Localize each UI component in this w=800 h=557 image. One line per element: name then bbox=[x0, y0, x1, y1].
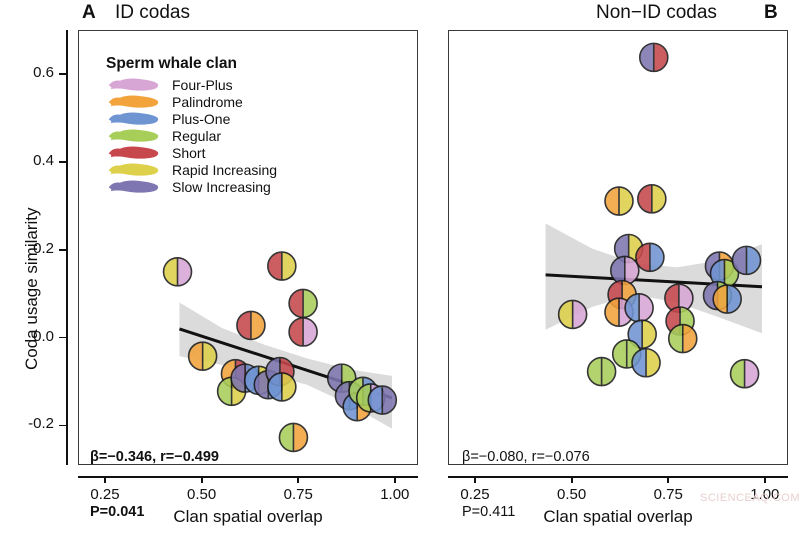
x-axis-line-a bbox=[78, 476, 418, 478]
panel-b-stats: β=−0.080, r=−0.076 P=0.411 bbox=[462, 412, 590, 557]
clan-legend: Sperm whale clan Four-PlusPalindromePlus… bbox=[106, 55, 277, 195]
data-point bbox=[625, 294, 653, 322]
panel-b-title: Non−ID codas bbox=[596, 2, 717, 24]
data-point bbox=[279, 423, 307, 451]
legend-item-label: Slow Increasing bbox=[172, 179, 271, 195]
legend-item-label: Short bbox=[172, 145, 205, 161]
y-tick-3 bbox=[59, 161, 66, 163]
legend-title: Sperm whale clan bbox=[106, 55, 277, 73]
data-point bbox=[559, 300, 587, 328]
y-tick-label-3: 0.4 bbox=[6, 152, 54, 169]
y-tick-1 bbox=[59, 337, 66, 339]
data-point bbox=[268, 252, 296, 280]
whale-icon bbox=[106, 94, 162, 109]
data-point bbox=[632, 349, 660, 377]
watermark: SCIENCEAQ.COM bbox=[700, 492, 800, 504]
x-tick-b-1 bbox=[571, 476, 573, 483]
whale-icon bbox=[106, 162, 162, 177]
y-tick-4 bbox=[59, 73, 66, 75]
panel-b-stats-line1: β=−0.080, r=−0.076 bbox=[462, 448, 590, 466]
x-tick-b-2 bbox=[667, 476, 669, 483]
legend-item-label: Rapid Increasing bbox=[172, 162, 277, 178]
legend-item[interactable]: Short bbox=[106, 144, 277, 161]
y-tick-label-4: 0.6 bbox=[6, 64, 54, 81]
legend-item-label: Four-Plus bbox=[172, 77, 233, 93]
data-point bbox=[368, 386, 396, 414]
legend-item[interactable]: Rapid Increasing bbox=[106, 161, 277, 178]
x-tick-label-b-1: 0.50 bbox=[542, 486, 602, 503]
whale-icon bbox=[106, 111, 162, 126]
data-point bbox=[733, 246, 761, 274]
panel-a-title: ID codas bbox=[115, 2, 190, 24]
data-point bbox=[669, 325, 697, 353]
legend-item[interactable]: Four-Plus bbox=[106, 76, 277, 93]
legend-item[interactable]: Slow Increasing bbox=[106, 178, 277, 195]
x-axis-title-b: Clan spatial overlap bbox=[538, 507, 698, 527]
data-point bbox=[731, 360, 759, 388]
legend-rows: Four-PlusPalindromePlus-OneRegularShortR… bbox=[106, 76, 277, 195]
x-tick-label-a-1: 0.50 bbox=[172, 486, 232, 503]
data-point bbox=[713, 285, 741, 313]
data-point bbox=[289, 289, 317, 317]
data-point bbox=[164, 258, 192, 286]
y-axis-title: Coda usage similarity bbox=[22, 207, 42, 370]
panel-a-stats: β=−0.346, r=−0.499 P=0.041 bbox=[90, 412, 219, 557]
x-tick-b-3 bbox=[764, 476, 766, 483]
data-point bbox=[605, 187, 633, 215]
data-point bbox=[237, 311, 265, 339]
whale-icon bbox=[106, 145, 162, 160]
x-tick-label-a-3: 1.00 bbox=[365, 486, 425, 503]
x-tick-a-2 bbox=[297, 476, 299, 483]
panel-a-letter: A bbox=[82, 2, 96, 24]
data-point bbox=[189, 342, 217, 370]
data-point bbox=[638, 185, 666, 213]
x-tick-b-0 bbox=[474, 476, 476, 483]
y-tick-label-0: -0.2 bbox=[6, 415, 54, 432]
x-tick-a-1 bbox=[201, 476, 203, 483]
legend-item[interactable]: Palindrome bbox=[106, 93, 277, 110]
x-tick-label-a-0: 0.25 bbox=[75, 486, 135, 503]
y-axis-line bbox=[66, 30, 68, 465]
legend-item[interactable]: Regular bbox=[106, 127, 277, 144]
legend-item-label: Palindrome bbox=[172, 94, 243, 110]
x-tick-label-b-0: 0.25 bbox=[445, 486, 505, 503]
y-tick-0 bbox=[59, 425, 66, 427]
panel-b-letter: B bbox=[764, 2, 778, 24]
data-point bbox=[636, 243, 664, 271]
panel-b-canvas bbox=[449, 31, 788, 465]
figure-root: A ID codas Sperm whale clan Four-PlusPal… bbox=[0, 0, 800, 530]
legend-item-label: Regular bbox=[172, 128, 221, 144]
x-tick-a-3 bbox=[394, 476, 396, 483]
x-tick-a-0 bbox=[104, 476, 106, 483]
whale-icon bbox=[106, 179, 162, 194]
x-tick-label-a-2: 0.75 bbox=[268, 486, 328, 503]
x-axis-line-b bbox=[448, 476, 788, 478]
x-tick-label-b-2: 0.75 bbox=[638, 486, 698, 503]
data-point bbox=[268, 373, 296, 401]
x-axis-title-a: Clan spatial overlap bbox=[168, 507, 328, 527]
y-tick-2 bbox=[59, 249, 66, 251]
data-point bbox=[289, 318, 317, 346]
data-point bbox=[588, 358, 616, 386]
legend-item[interactable]: Plus-One bbox=[106, 110, 277, 127]
legend-item-label: Plus-One bbox=[172, 111, 230, 127]
whale-icon bbox=[106, 77, 162, 92]
panel-b-plot-area bbox=[448, 30, 788, 465]
whale-icon bbox=[106, 128, 162, 143]
data-point bbox=[640, 43, 668, 71]
panel-a-stats-line1: β=−0.346, r=−0.499 bbox=[90, 448, 219, 466]
